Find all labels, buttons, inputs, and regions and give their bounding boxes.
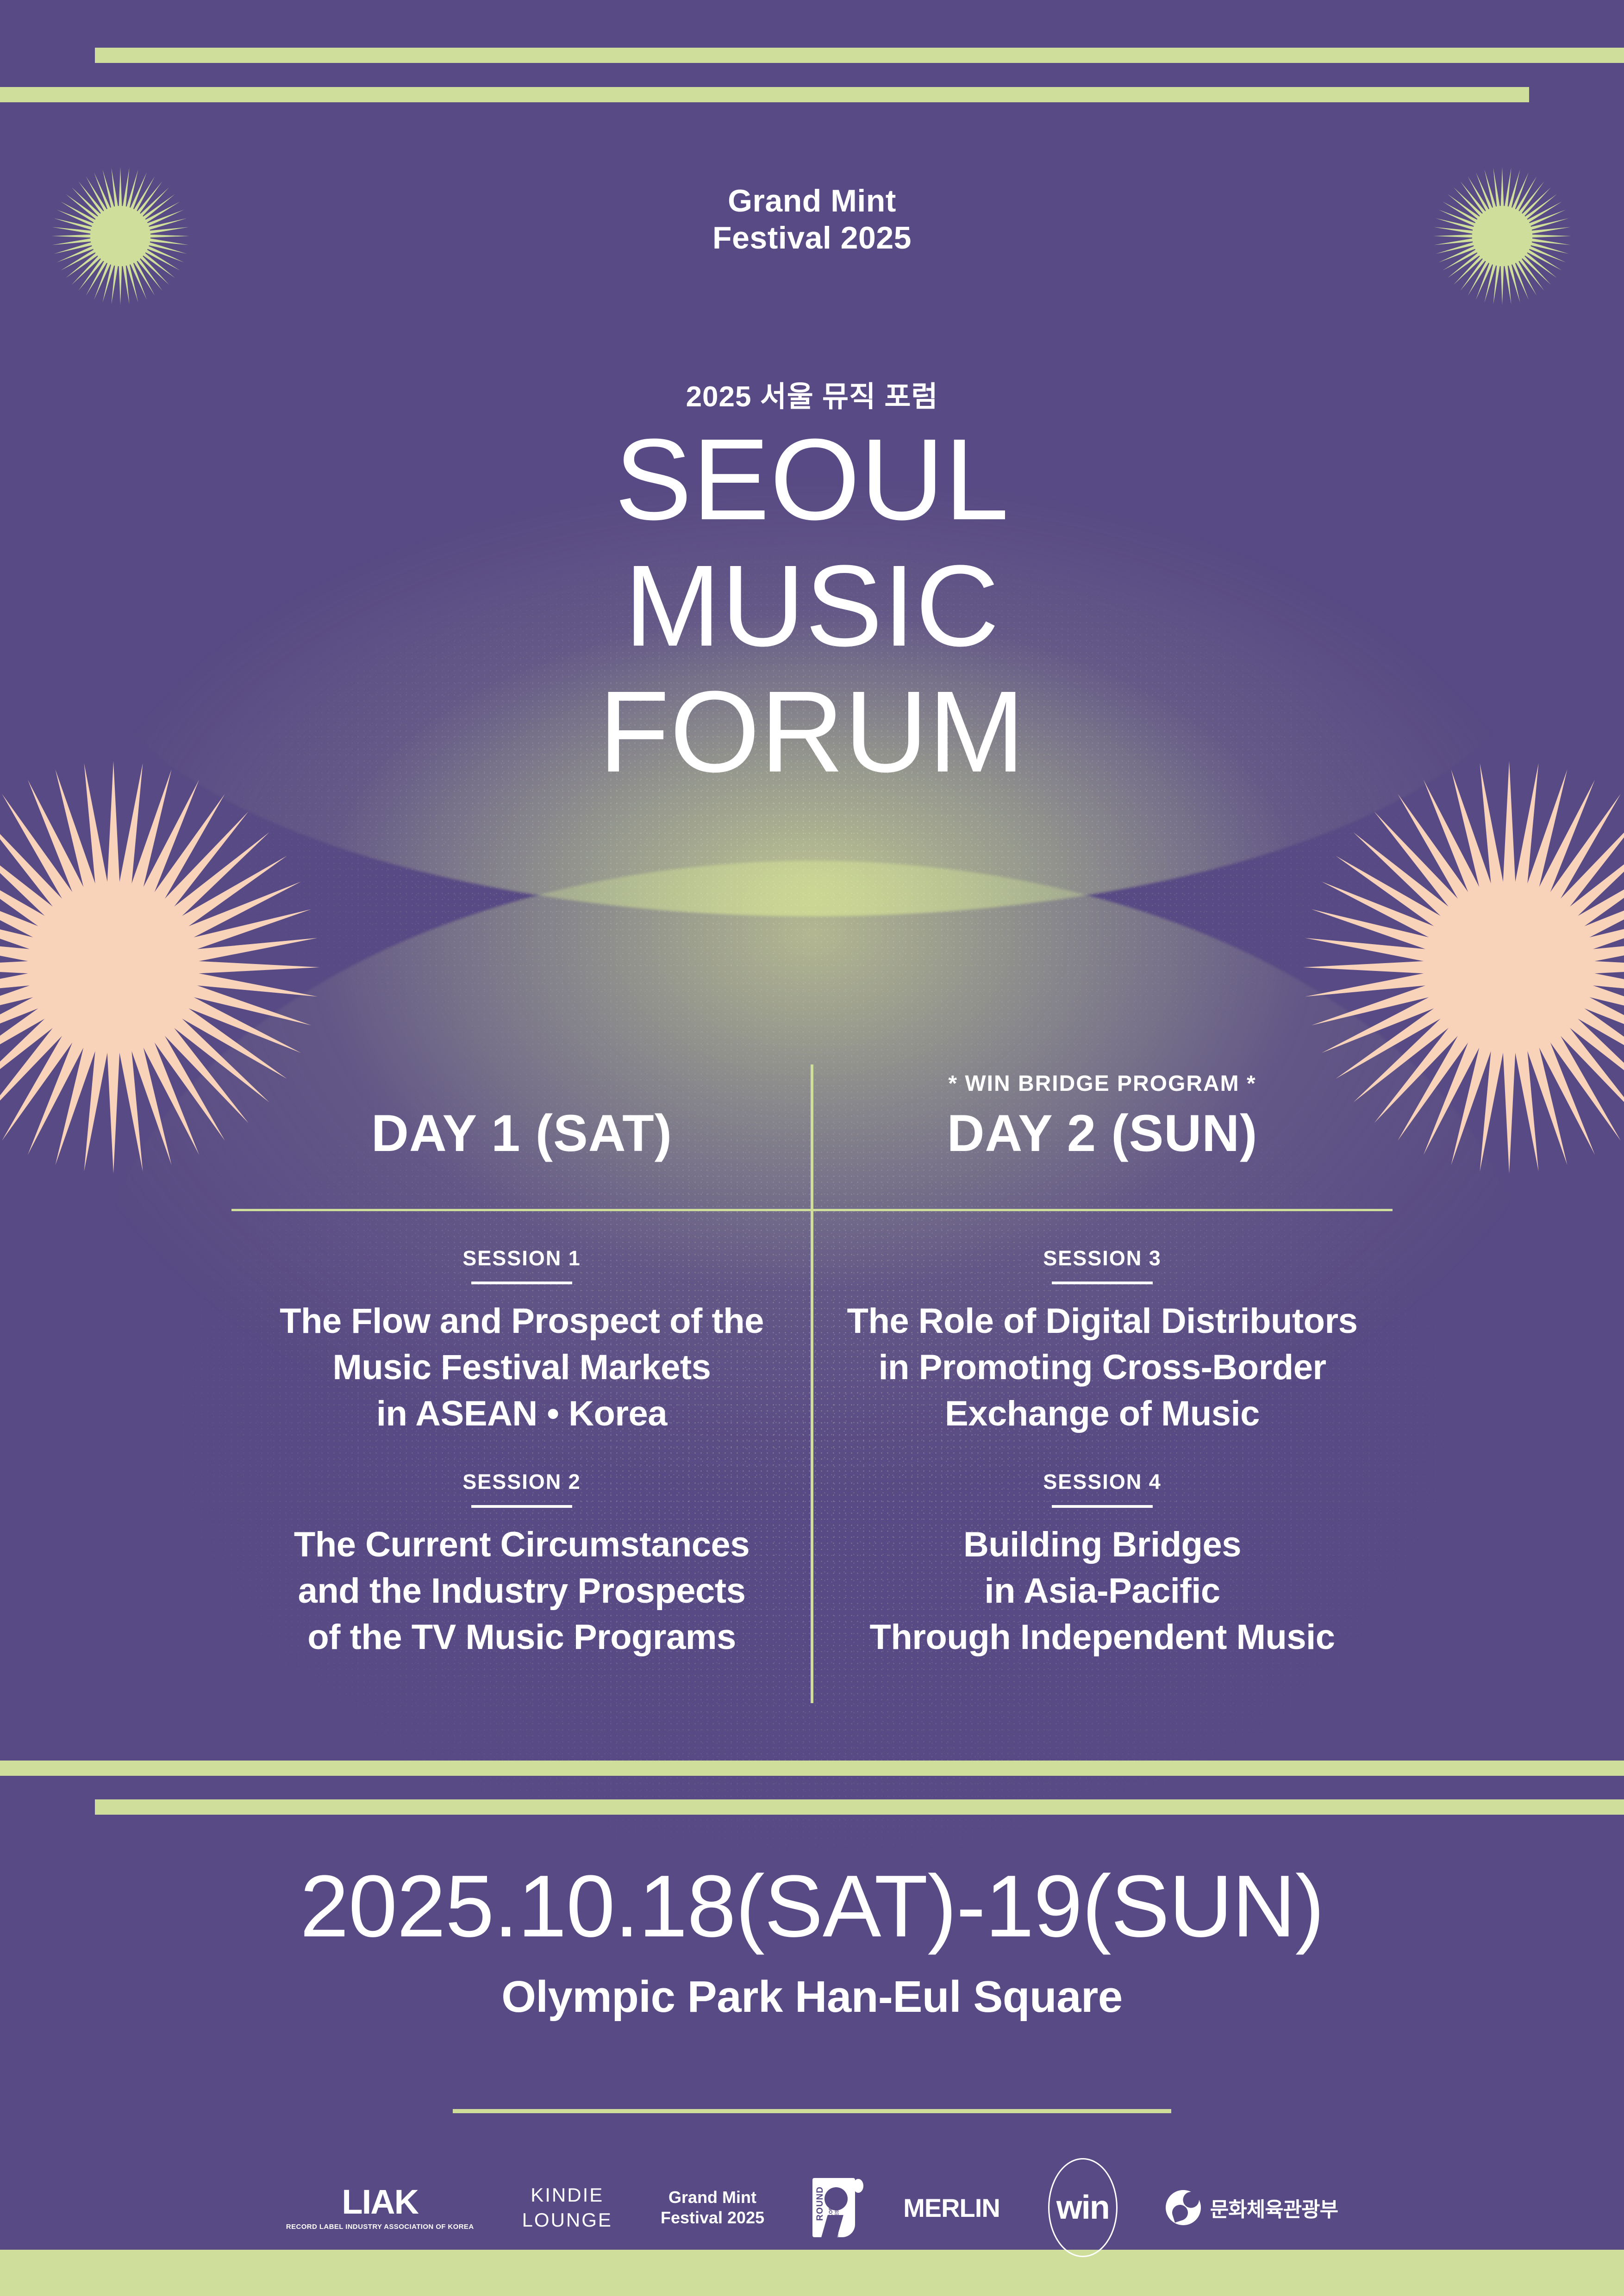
- session3-rule: [1052, 1282, 1153, 1284]
- session1-line-1: The Flow and Prospect of the: [231, 1298, 812, 1344]
- logo-mcst[interactable]: 문화체육관광부: [1166, 2190, 1338, 2225]
- event-venue: Olympic Park Han-Eul Square: [0, 1972, 1624, 2022]
- session1-rule: [471, 1282, 572, 1284]
- title-line-1: SEOUL: [0, 417, 1624, 543]
- title-line-2: MUSIC: [0, 543, 1624, 669]
- day1-title: DAY 1 (SAT): [231, 1106, 812, 1161]
- logo-grand-mint-festival[interactable]: Grand Mint Festival 2025: [661, 2187, 764, 2228]
- gmf-small-line-2: Festival 2025: [661, 2208, 764, 2228]
- session3-line-2: in Promoting Cross-Border: [812, 1344, 1393, 1391]
- footer-rule: [453, 2109, 1171, 2113]
- session1-label: SESSION 1: [231, 1246, 812, 1270]
- win-wordmark: win: [1048, 2158, 1118, 2257]
- session3-label: SESSION 3: [812, 1246, 1393, 1270]
- session-block-3: SESSION 3 The Role of Digital Distributo…: [812, 1246, 1393, 1437]
- program-section: DAY 1 (SAT) SESSION 1 The Flow and Prosp…: [0, 1064, 1624, 1703]
- session-block-4: SESSION 4 Building Bridges in Asia-Pacif…: [812, 1470, 1393, 1661]
- logo-liak[interactable]: LIAK RECORD LABEL INDUSTRY ASSOCIATION O…: [286, 2185, 474, 2231]
- session2-rule: [471, 1505, 572, 1508]
- logo-win[interactable]: win: [1048, 2158, 1118, 2257]
- logo-round[interactable]: ROUND ASEAN-KOREA MUSIC FESTIVAL: [812, 2178, 855, 2237]
- kindie-line-2: Lounge: [522, 2208, 612, 2233]
- merlin-wordmark: MERLIN: [903, 2193, 1000, 2223]
- day1-rule: [231, 1209, 812, 1211]
- logo-merlin[interactable]: MERLIN: [903, 2193, 1000, 2223]
- session1-line-3: in ASEAN • Korea: [231, 1391, 812, 1437]
- poster-canvas: Grand Mint Festival 2025 2025 서울 뮤직 포럼 S…: [0, 0, 1624, 2296]
- liak-wordmark: LIAK: [342, 2185, 418, 2219]
- session2-line-3: of the TV Music Programs: [231, 1614, 812, 1661]
- liak-subtext: RECORD LABEL INDUSTRY ASSOCIATION OF KOR…: [286, 2223, 474, 2231]
- session-block-2: SESSION 2 The Current Circumstances and …: [231, 1470, 812, 1661]
- page-title: SEOUL MUSIC FORUM: [0, 417, 1624, 795]
- session4-line-3: Through Independent Music: [812, 1614, 1393, 1661]
- day1-tag-spacer: [231, 1064, 812, 1103]
- korean-subtitle: 2025 서울 뮤직 포럼: [0, 373, 1624, 415]
- session4-label: SESSION 4: [812, 1470, 1393, 1494]
- mcst-wordmark: 문화체육관광부: [1210, 2193, 1338, 2222]
- day-column-2: * WIN BRIDGE PROGRAM * DAY 2 (SUN) SESSI…: [812, 1064, 1393, 1661]
- session-block-1: SESSION 1 The Flow and Prospect of the M…: [231, 1246, 812, 1437]
- round-mark-icon: ROUND ASEAN-KOREA MUSIC FESTIVAL: [812, 2178, 855, 2237]
- event-date: 2025.10.18(SAT)-19(SUN): [0, 1856, 1624, 1957]
- session2-line-2: and the Industry Prospects: [231, 1568, 812, 1614]
- session3-line-1: The Role of Digital Distributors: [812, 1298, 1393, 1344]
- session1-line-2: Music Festival Markets: [231, 1344, 812, 1391]
- gmf-logo-line2: Festival 2025: [0, 219, 1624, 256]
- day-column-1: DAY 1 (SAT) SESSION 1 The Flow and Prosp…: [231, 1064, 812, 1661]
- session2-line-1: The Current Circumstances: [231, 1522, 812, 1568]
- grand-mint-festival-logo: Grand Mint Festival 2025: [0, 182, 1624, 256]
- title-line-3: FORUM: [0, 669, 1624, 795]
- day2-title: DAY 2 (SUN): [812, 1106, 1393, 1161]
- kindie-line-1: Kindie: [531, 2183, 604, 2208]
- mcst-taegeuk-icon: [1166, 2190, 1201, 2225]
- gmf-small-line-1: Grand Mint: [668, 2187, 756, 2208]
- gmf-logo-line1: Grand Mint: [0, 182, 1624, 219]
- round-dot-icon: [853, 2179, 863, 2193]
- session3-line-3: Exchange of Music: [812, 1391, 1393, 1437]
- session4-line-2: in Asia-Pacific: [812, 1568, 1393, 1614]
- session2-label: SESSION 2: [231, 1470, 812, 1494]
- round-wordmark: ROUND: [815, 2186, 825, 2221]
- sponsor-logo-strip: LIAK RECORD LABEL INDUSTRY ASSOCIATION O…: [0, 2171, 1624, 2245]
- day2-rule: [812, 1209, 1393, 1211]
- session1-title: The Flow and Prospect of the Music Festi…: [231, 1298, 812, 1437]
- session4-title: Building Bridges in Asia-Pacific Through…: [812, 1522, 1393, 1661]
- session4-line-1: Building Bridges: [812, 1522, 1393, 1568]
- round-subtext: ASEAN-KOREA MUSIC FESTIVAL: [828, 2192, 840, 2237]
- session4-rule: [1052, 1505, 1153, 1508]
- win-bridge-program-tag: * WIN BRIDGE PROGRAM *: [812, 1064, 1393, 1103]
- logo-kindie-lounge[interactable]: Kindie Lounge: [522, 2183, 612, 2233]
- session2-title: The Current Circumstances and the Indust…: [231, 1522, 812, 1661]
- session3-title: The Role of Digital Distributors in Prom…: [812, 1298, 1393, 1437]
